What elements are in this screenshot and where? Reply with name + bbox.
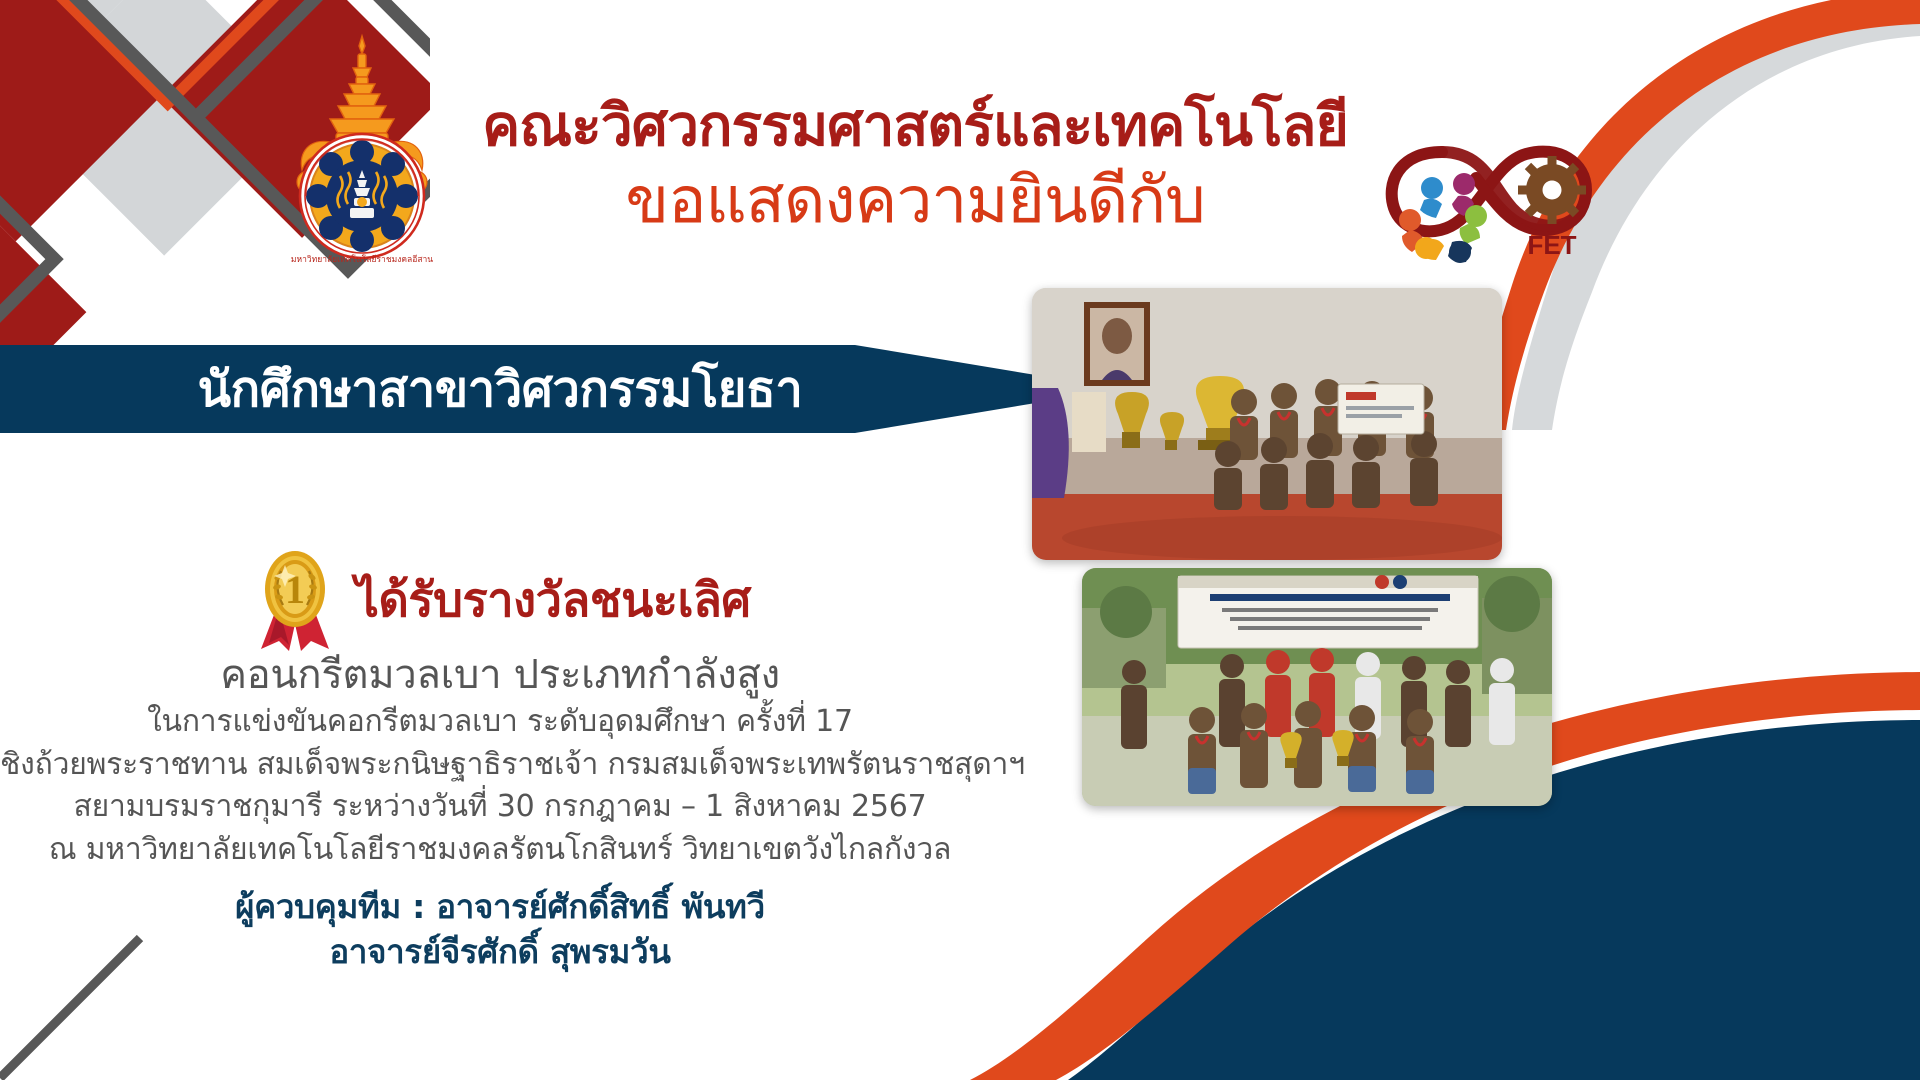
fet-logo-text: FET	[1527, 230, 1576, 260]
award-title: ได้รับรางวัลชนะเลิศ	[355, 562, 751, 637]
award-detail-line-4: ณ มหาวิทยาลัยเทคโนโลยีราชมงคลรัตนโกสินทร…	[0, 829, 1000, 872]
svg-text:มหาวิทยาลัยเทคโนโลยีราชมงคลอีส: มหาวิทยาลัยเทคโนโลยีราชมงคลอีสาน	[291, 254, 433, 265]
gold-medal-first-place-icon: 1	[249, 545, 341, 653]
award-description-block: คอนกรีตมวลเบา ประเภทกำลังสูง ในการแข่งขั…	[0, 650, 1000, 872]
header-section: มหาวิทยาลัยเทคโนโลยีราชมงคลอีสาน คณะวิศว…	[0, 0, 1920, 345]
student-program-banner: นักศึกษาสาขาวิศวกรรมโยธา	[0, 345, 1120, 433]
award-category: คอนกรีตมวลเบา ประเภทกำลังสูง	[0, 650, 1000, 701]
banner-label: นักศึกษาสาขาวิศวกรรมโยธา	[0, 345, 1000, 433]
fet-faculty-logo-icon: FET	[1380, 128, 1610, 268]
award-detail-line-1: ในการแข่งขันคอกรีตมวลเบา ระดับอุดมศึกษา …	[0, 701, 1000, 744]
team-group-outdoor-photo	[1082, 568, 1552, 806]
congratulations-line: ขอแสดงความยินดีกับ	[470, 163, 1360, 240]
award-detail-line-3: สยามบรมราชกุมารี ระหว่างวันที่ 30 กรกฎาค…	[0, 786, 1000, 829]
banner-canvas: มหาวิทยาลัยเทคโนโลยีราชมงคลอีสาน คณะวิศว…	[0, 0, 1920, 1080]
advisor-block: ผู้ควบคุมทีม : อาจารย์ศักดิ์สิทธิ์ พันทว…	[0, 885, 1000, 974]
rmutr-university-seal-icon: มหาวิทยาลัยเทคโนโลยีราชมงคลอีสาน	[262, 30, 462, 270]
faculty-name-line: คณะวิศวกรรมศาสตร์และเทคโนโลยี	[470, 95, 1360, 159]
advisor-line-1: ผู้ควบคุมทีม : อาจารย์ศักดิ์สิทธิ์ พันทว…	[0, 885, 1000, 930]
advisor-line-2: อาจารย์จีรศักดิ์ สุพรมวัน	[0, 930, 1000, 975]
award-headline-row: 1 ได้รับรางวัลชนะเลิศ	[0, 545, 1000, 653]
header-text-block: คณะวิศวกรรมศาสตร์และเทคโนโลยี ขอแสดงความ…	[470, 95, 1360, 240]
award-detail-line-2: ชิงถ้วยพระราชทาน สมเด็จพระกนิษฐาธิราชเจ้…	[0, 744, 1000, 787]
team-award-ceremony-photo	[1032, 288, 1502, 560]
